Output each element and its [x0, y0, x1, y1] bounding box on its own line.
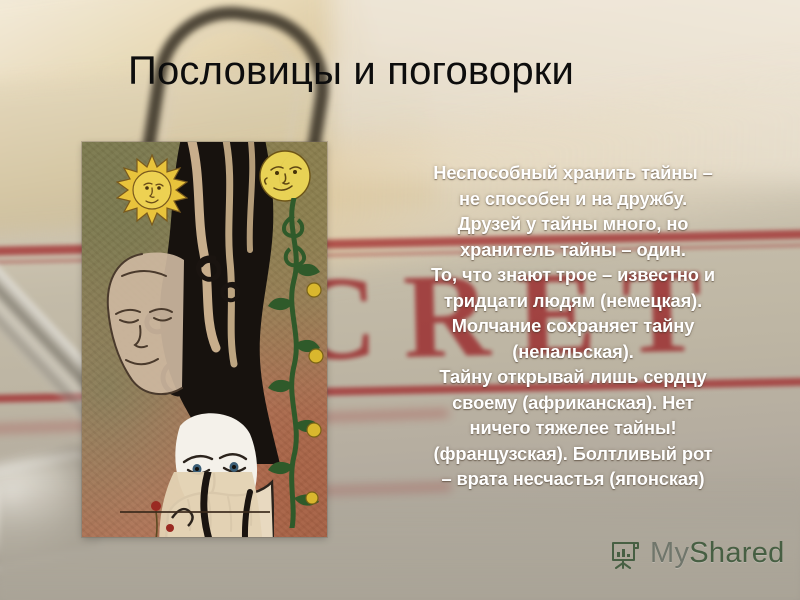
slide-canvas: SECRET Пословицы и поговорки [0, 0, 800, 600]
proverb-line: своему (африканская). Нет [378, 390, 768, 416]
proverb-line: не способен и на дружбу. [378, 186, 768, 212]
logo-text-my: My [650, 537, 689, 569]
illustration-baseline-rule [120, 511, 270, 513]
proverb-line: ничего тяжелее тайны! [378, 415, 768, 441]
myshared-watermark: MyShared [609, 536, 785, 570]
proverb-line: Неспособный хранить тайны – [378, 160, 768, 186]
logo-text-shared: Shared [689, 537, 784, 569]
ghost-profile-face [96, 250, 196, 400]
myshared-logo-text: MyShared [650, 537, 785, 570]
proverb-line: (непальская). [378, 339, 768, 365]
proverb-line: хранитель тайны – один. [378, 237, 768, 263]
proverb-line: Тайну открывай лишь сердцу [378, 364, 768, 390]
sun-face-icon [116, 154, 188, 226]
proverb-line: тридцати людям (немецкая). [378, 288, 768, 314]
flowering-vine [264, 198, 327, 528]
proverb-line: То, что знают трое – известно и [378, 262, 768, 288]
proverb-line: Молчание сохраняет тайну [378, 313, 768, 339]
proverb-line: Друзей у тайны много, но [378, 211, 768, 237]
presentation-board-icon [609, 536, 643, 570]
proverb-line: (французская). Болтливый рот [378, 441, 768, 467]
page-title: Пословицы и поговорки [128, 49, 574, 94]
proverbs-text-block: Неспособный хранить тайны – не способен … [378, 160, 768, 492]
proverb-line: – врата несчастья (японская) [378, 466, 768, 492]
illustration-image [82, 142, 327, 537]
